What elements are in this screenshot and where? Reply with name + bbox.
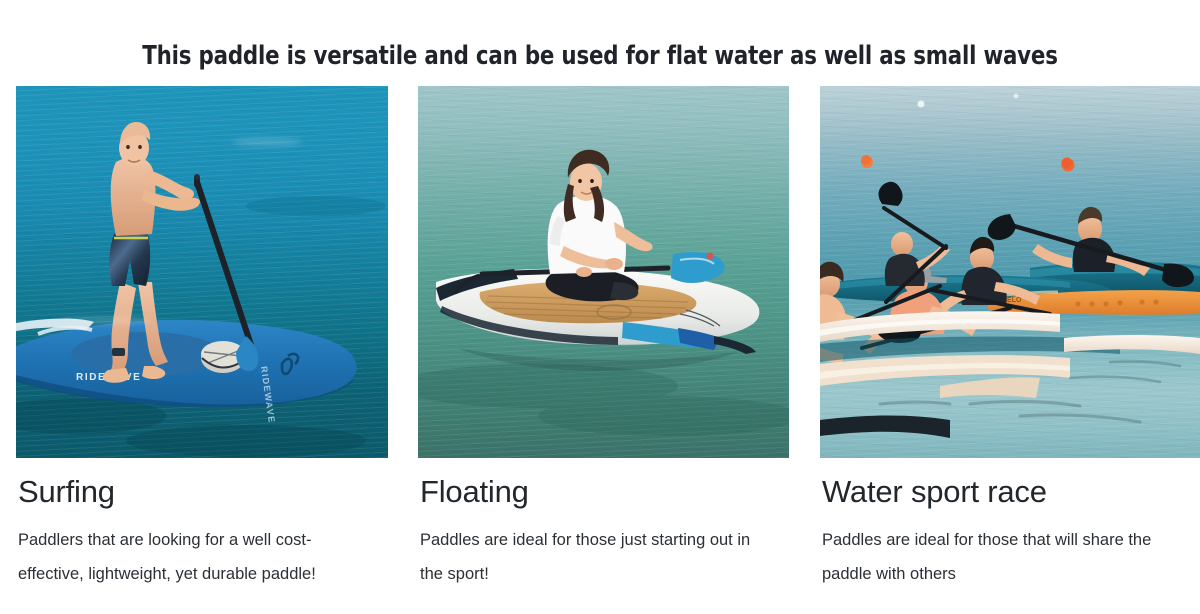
- card-body-water-sport-race: Paddles are ideal for those that will sh…: [822, 523, 1177, 592]
- kayak-race-scene: NELO: [820, 86, 1200, 458]
- feature-columns: RIDEWAVE RIDEWAVE: [0, 86, 1200, 614]
- card-title-water-sport-race: Water sport race: [822, 476, 1200, 509]
- product-feature-section: This paddle is versatile and can be used…: [0, 0, 1200, 614]
- foreground-hulls: [820, 311, 1200, 438]
- card-body-floating: Paddles are ideal for those just startin…: [420, 523, 775, 592]
- water-glint: [232, 138, 302, 146]
- buoys: [861, 94, 1075, 172]
- feature-column-surfing: RIDEWAVE RIDEWAVE: [16, 86, 388, 614]
- image-kayak-race-group: NELO: [820, 86, 1200, 458]
- paddleboard-scene: RIDEWAVE RIDEWAVE: [16, 86, 388, 458]
- card-title-floating: Floating: [420, 476, 789, 509]
- floating-scene: [418, 86, 789, 458]
- image-man-standing-on-paddleboard: RIDEWAVE RIDEWAVE: [16, 86, 388, 458]
- water-glint: [61, 317, 151, 324]
- image-woman-sitting-on-paddleboard: [418, 86, 789, 458]
- card-title-surfing: Surfing: [18, 476, 388, 509]
- feature-column-floating: Floating Paddles are ideal for those jus…: [418, 86, 789, 614]
- page-title: This paddle is versatile and can be used…: [42, 41, 1158, 71]
- feature-column-water-sport-race: NELO: [820, 86, 1200, 614]
- card-body-surfing: Paddlers that are looking for a well cos…: [18, 523, 373, 592]
